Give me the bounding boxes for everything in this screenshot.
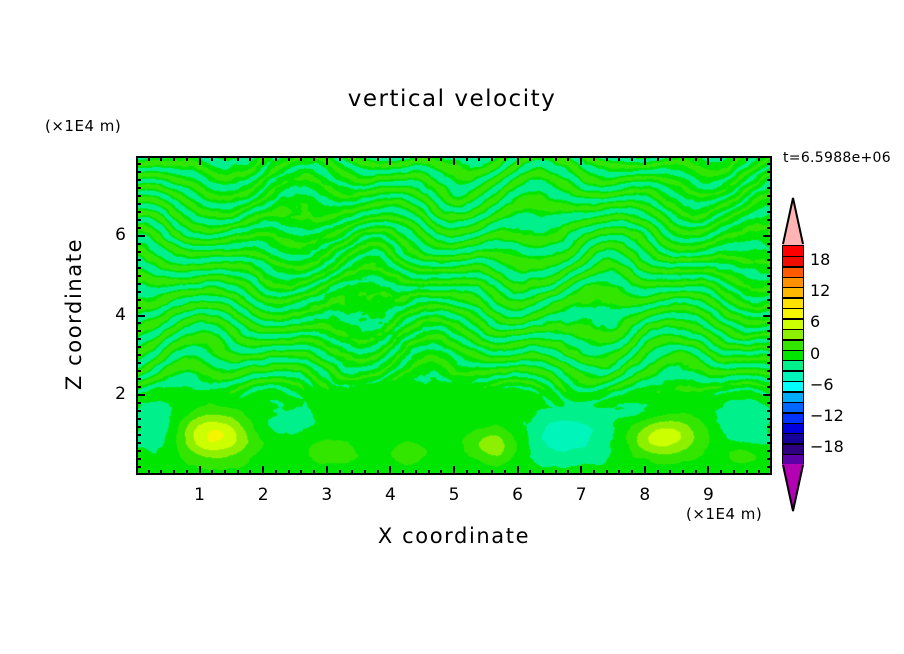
x-tick-top	[440, 156, 442, 161]
colorbar-arrow-outline	[782, 197, 804, 245]
y-tick-right	[767, 466, 772, 468]
y-tick-right	[767, 458, 772, 460]
x-tick-top	[733, 156, 735, 161]
x-tick-top	[682, 156, 684, 161]
y-tick	[136, 346, 141, 348]
x-tick-top	[351, 156, 353, 161]
colorbar-separator	[783, 287, 803, 289]
x-tick-top	[389, 156, 391, 165]
x-tick	[517, 466, 519, 475]
y-tick	[136, 322, 141, 324]
x-tick-top	[631, 156, 633, 161]
x-tick-top	[160, 156, 162, 161]
x-tick	[224, 470, 226, 475]
y-tick	[136, 466, 141, 468]
y-tick-right	[767, 346, 772, 348]
x-tick-top	[339, 156, 341, 161]
x-tick	[389, 466, 391, 475]
y-axis-title: Z coordinate	[62, 214, 86, 414]
y-tick	[136, 386, 141, 388]
y-tick	[136, 243, 141, 245]
y-tick	[136, 203, 141, 205]
y-tick-right	[767, 275, 772, 277]
y-tick	[136, 187, 141, 189]
y-tick	[136, 299, 141, 301]
x-tick-label: 3	[307, 485, 347, 505]
x-tick-top	[606, 156, 608, 161]
x-tick-top	[275, 156, 277, 161]
colorbar-tick-label: 18	[810, 250, 830, 269]
x-tick-top	[249, 156, 251, 161]
x-tick-top	[237, 156, 239, 161]
x-tick-top	[580, 156, 582, 165]
colorbar-separator	[783, 256, 803, 258]
x-tick	[402, 470, 404, 475]
y-tick-right	[763, 315, 772, 317]
y-tick	[136, 267, 141, 269]
x-tick	[758, 470, 760, 475]
y-tick	[136, 458, 141, 460]
x-tick-top	[644, 156, 646, 165]
y-tick-right	[767, 163, 772, 165]
x-tick-top	[593, 156, 595, 161]
x-tick-label: 6	[498, 485, 538, 505]
x-tick	[580, 466, 582, 475]
x-tick	[555, 470, 557, 475]
x-tick-top	[415, 156, 417, 161]
colorbar-separator	[783, 423, 803, 425]
x-tick-label: 4	[370, 485, 410, 505]
y-tick	[136, 259, 141, 261]
x-tick	[682, 470, 684, 475]
colorbar-separator	[783, 370, 803, 372]
y-tick	[136, 283, 141, 285]
y-tick-right	[767, 251, 772, 253]
x-tick	[504, 470, 506, 475]
x-tick-top	[567, 156, 569, 161]
colorbar-separator	[783, 266, 803, 268]
y-tick	[136, 275, 141, 277]
y-tick	[136, 338, 141, 340]
x-tick	[695, 470, 697, 475]
x-tick	[326, 466, 328, 475]
x-tick-top	[555, 156, 557, 161]
y-tick-right	[767, 203, 772, 205]
y-tick	[136, 171, 141, 173]
x-axis-title: X coordinate	[136, 524, 772, 548]
y-tick-right	[767, 243, 772, 245]
y-tick	[136, 370, 141, 372]
x-tick-label: 9	[688, 485, 728, 505]
y-tick-label: 6	[86, 225, 126, 245]
x-tick-top	[707, 156, 709, 165]
y-tick	[136, 426, 141, 428]
x-tick	[593, 470, 595, 475]
y-tick-right	[763, 394, 772, 396]
colorbar-separator	[783, 360, 803, 362]
y-tick-right	[767, 259, 772, 261]
x-tick-top	[695, 156, 697, 161]
colorbar-separator	[783, 318, 803, 320]
x-tick-top	[517, 156, 519, 165]
x-tick	[720, 470, 722, 475]
y-tick-right	[767, 267, 772, 269]
colorbar-tick-label: −6	[810, 375, 834, 394]
y-tick	[136, 291, 141, 293]
y-tick-right	[767, 187, 772, 189]
colorbar-separator	[783, 454, 803, 456]
x-tick-label: 8	[625, 485, 665, 505]
y-tick	[136, 442, 141, 444]
y-tick	[136, 219, 141, 221]
y-tick	[136, 227, 141, 229]
y-tick	[136, 450, 141, 452]
y-tick-right	[767, 291, 772, 293]
y-tick-right	[767, 434, 772, 436]
y-tick	[136, 434, 141, 436]
contour-plot-area	[136, 156, 772, 475]
y-tick	[136, 315, 145, 317]
y-tick-right	[767, 179, 772, 181]
y-tick	[136, 354, 141, 356]
colorbar-separator	[783, 412, 803, 414]
y-tick-right	[767, 418, 772, 420]
y-tick-right	[763, 235, 772, 237]
x-tick	[173, 470, 175, 475]
x-tick	[211, 470, 213, 475]
x-tick-top	[618, 156, 620, 161]
y-tick-right	[767, 362, 772, 364]
x-tick-top	[542, 156, 544, 161]
colorbar-tick-label: 6	[810, 312, 820, 331]
x-tick-top	[377, 156, 379, 161]
x-tick-top	[466, 156, 468, 161]
x-tick-top	[262, 156, 264, 165]
x-tick-top	[720, 156, 722, 161]
colorbar-separator	[783, 329, 803, 331]
x-tick	[351, 470, 353, 475]
x-tick-top	[478, 156, 480, 161]
x-tick-top	[491, 156, 493, 161]
x-tick-top	[186, 156, 188, 161]
colorbar-tick-label: 0	[810, 344, 820, 363]
x-tick	[491, 470, 493, 475]
x-tick	[644, 466, 646, 475]
x-tick	[148, 470, 150, 475]
colorbar-separator	[783, 402, 803, 404]
colorbar-separator	[783, 277, 803, 279]
x-tick-top	[313, 156, 315, 161]
x-tick	[567, 470, 569, 475]
y-tick-right	[767, 211, 772, 213]
x-tick	[199, 466, 201, 475]
x-tick	[186, 470, 188, 475]
y-tick-right	[767, 442, 772, 444]
y-tick	[136, 195, 141, 197]
x-tick	[339, 470, 341, 475]
y-tick-right	[767, 283, 772, 285]
y-tick-right	[767, 426, 772, 428]
x-tick	[415, 470, 417, 475]
x-tick-top	[199, 156, 201, 165]
y-tick-right	[767, 378, 772, 380]
colorbar-separator	[783, 350, 803, 352]
timestamp-label: t=6.5988e+06	[783, 150, 891, 166]
x-tick-top	[224, 156, 226, 161]
x-tick	[542, 470, 544, 475]
y-tick	[136, 394, 145, 396]
y-tick-right	[767, 299, 772, 301]
colorbar-separator	[783, 391, 803, 393]
colorbar-separator	[783, 381, 803, 383]
x-tick-top	[402, 156, 404, 161]
y-tick	[136, 235, 145, 237]
x-tick-top	[669, 156, 671, 161]
y-tick-right	[767, 171, 772, 173]
y-tick-right	[767, 402, 772, 404]
x-tick	[160, 470, 162, 475]
x-tick-top	[453, 156, 455, 165]
colorbar-separator	[783, 297, 803, 299]
x-tick	[237, 470, 239, 475]
chart-title: vertical velocity	[0, 86, 904, 112]
colorbar-tick-label: 12	[810, 281, 830, 300]
x-tick	[377, 470, 379, 475]
y-tick-right	[767, 386, 772, 388]
colorbar-tick-label: −12	[810, 406, 844, 425]
y-tick-right	[767, 370, 772, 372]
y-tick-label: 2	[86, 384, 126, 404]
y-tick-right	[767, 410, 772, 412]
x-tick	[529, 470, 531, 475]
x-tick-top	[529, 156, 531, 161]
x-tick-label: 1	[180, 485, 220, 505]
y-tick-right	[767, 450, 772, 452]
colorbar-separator	[783, 308, 803, 310]
x-tick	[606, 470, 608, 475]
x-tick	[453, 466, 455, 475]
x-tick-top	[211, 156, 213, 161]
x-tick-label: 5	[434, 485, 474, 505]
figure-root: vertical velocity (×1E4 m) (×1E4 m) t=6.…	[0, 0, 904, 654]
colorbar-body	[782, 245, 804, 464]
y-tick-right	[767, 330, 772, 332]
y-tick	[136, 211, 141, 213]
x-tick-label: 7	[561, 485, 601, 505]
x-tick-label: 2	[243, 485, 283, 505]
x-tick	[440, 470, 442, 475]
x-tick	[746, 470, 748, 475]
x-tick	[478, 470, 480, 475]
x-tick	[364, 470, 366, 475]
y-tick	[136, 330, 141, 332]
x-tick	[288, 470, 290, 475]
y-tick-right	[767, 219, 772, 221]
x-tick-top	[758, 156, 760, 161]
x-tick	[313, 470, 315, 475]
x-tick-top	[746, 156, 748, 161]
x-tick-top	[504, 156, 506, 161]
x-tick-top	[288, 156, 290, 161]
y-tick-right	[767, 338, 772, 340]
x-tick-top	[300, 156, 302, 161]
colorbar-tick-label: −18	[810, 437, 844, 456]
x-tick-top	[173, 156, 175, 161]
x-unit-label: (×1E4 m)	[686, 505, 762, 523]
y-tick-right	[767, 195, 772, 197]
colorbar-separator	[783, 339, 803, 341]
x-tick	[669, 470, 671, 475]
y-tick	[136, 307, 141, 309]
y-tick	[136, 410, 141, 412]
y-tick	[136, 378, 141, 380]
x-tick	[618, 470, 620, 475]
x-tick	[262, 466, 264, 475]
colorbar-separator	[783, 443, 803, 445]
x-tick	[733, 470, 735, 475]
y-tick	[136, 163, 141, 165]
x-tick-top	[428, 156, 430, 161]
y-tick	[136, 362, 141, 364]
velocity-field-canvas	[138, 158, 770, 473]
x-tick	[631, 470, 633, 475]
y-tick	[136, 251, 141, 253]
x-tick	[428, 470, 430, 475]
y-tick-right	[767, 307, 772, 309]
y-tick-right	[767, 322, 772, 324]
colorbar-arrow-outline	[782, 464, 804, 512]
x-tick	[657, 470, 659, 475]
x-tick	[466, 470, 468, 475]
y-tick-right	[767, 227, 772, 229]
x-tick	[707, 466, 709, 475]
x-tick-top	[364, 156, 366, 161]
x-tick-top	[326, 156, 328, 165]
y-unit-label: (×1E4 m)	[45, 117, 121, 135]
x-tick-top	[148, 156, 150, 161]
y-tick	[136, 418, 141, 420]
y-tick-label: 4	[86, 305, 126, 325]
x-tick	[249, 470, 251, 475]
x-tick	[275, 470, 277, 475]
x-tick	[300, 470, 302, 475]
y-tick	[136, 179, 141, 181]
x-tick-top	[657, 156, 659, 161]
y-tick-right	[767, 354, 772, 356]
colorbar-separator	[783, 433, 803, 435]
y-tick	[136, 402, 141, 404]
